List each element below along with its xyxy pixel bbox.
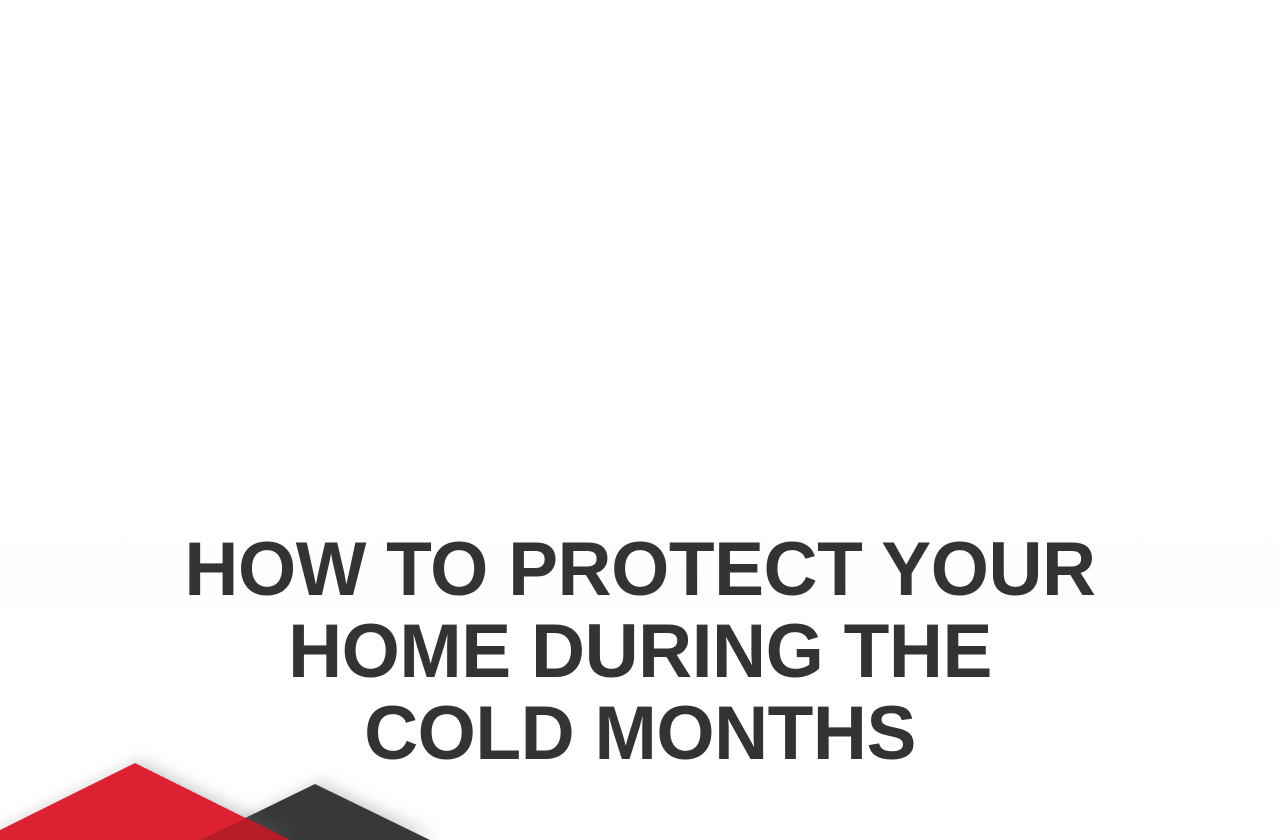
headline-line-1: HOW TO PROTECT YOUR — [10, 529, 1271, 611]
logo-peaks-svg — [0, 750, 440, 840]
poster-headline: HOW TO PROTECT YOUR HOME DURING THE COLD… — [10, 529, 1271, 775]
brand-logo — [0, 750, 440, 840]
headline-line-2: HOME DURING THE — [10, 611, 1271, 693]
winter-home-protection-poster: HOW TO PROTECT YOUR HOME DURING THE COLD… — [0, 0, 1280, 840]
